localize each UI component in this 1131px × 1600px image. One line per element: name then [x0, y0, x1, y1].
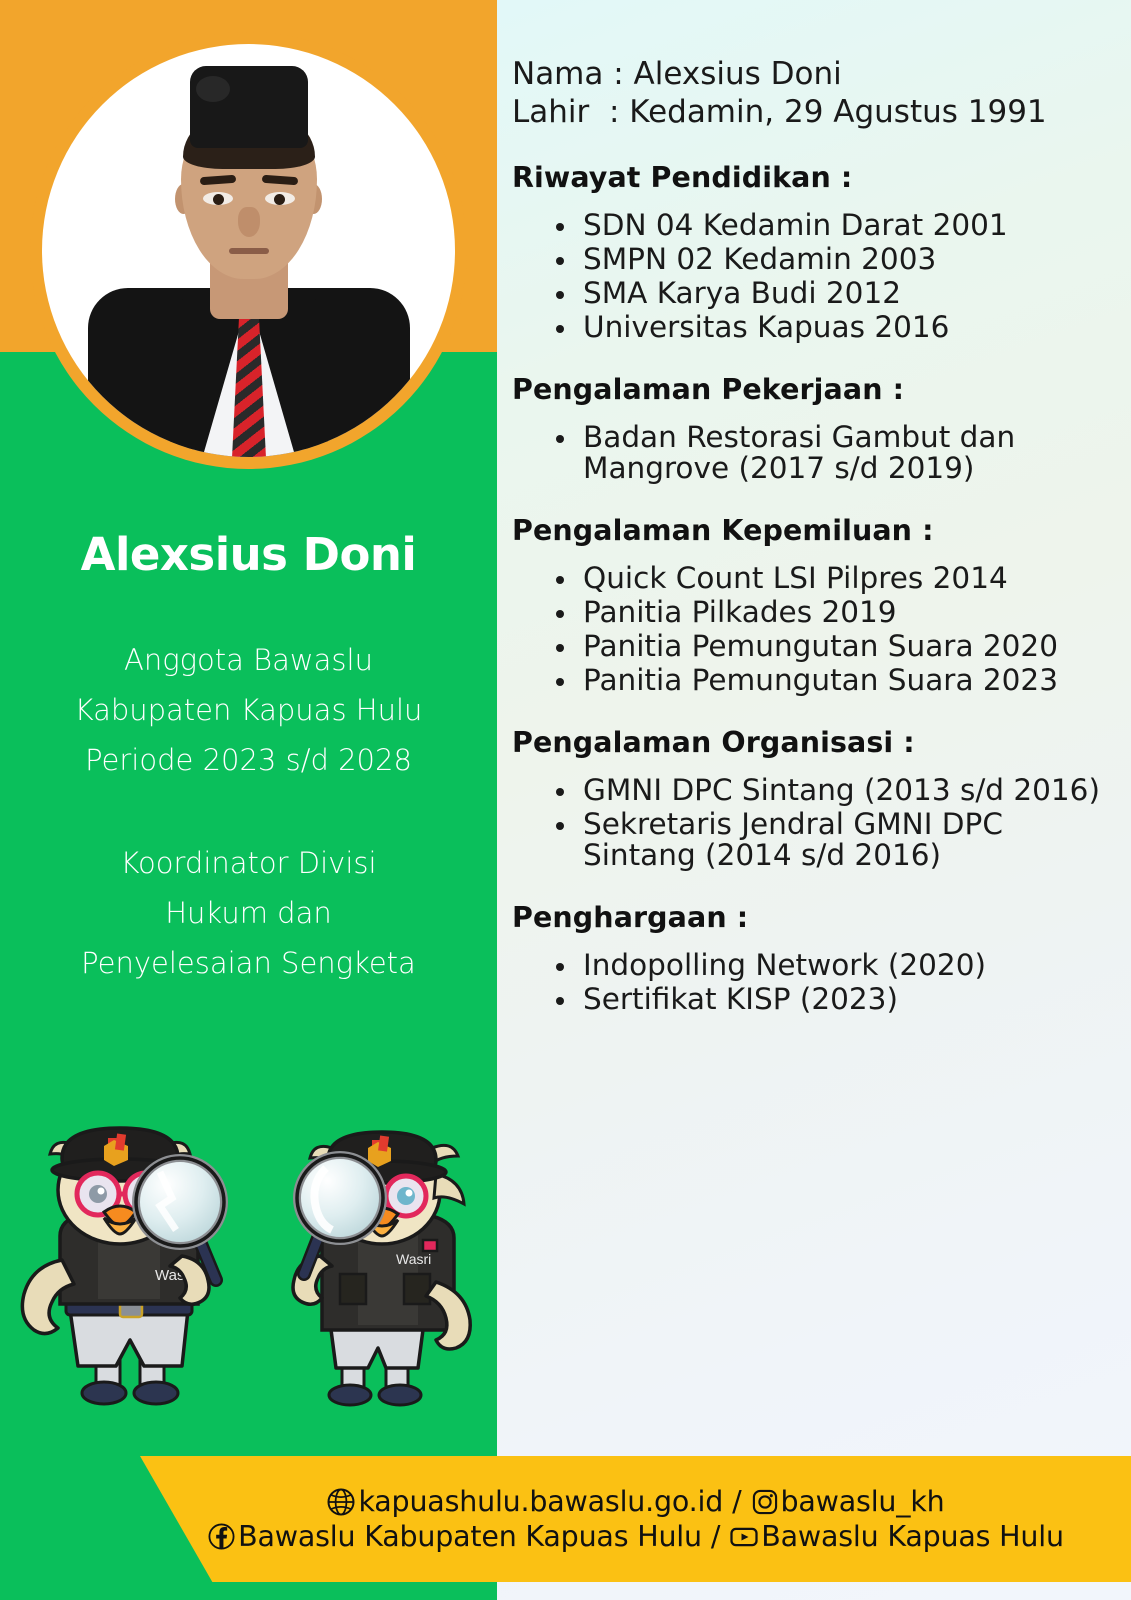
footer-line-1: kapuashulu.bawaslu.go.id / bawaslu_kh [326, 1485, 944, 1518]
role-line-3: Periode 2023 s/d 2028 [24, 735, 473, 785]
footer-instagram[interactable]: bawaslu_kh [781, 1485, 945, 1518]
mascot-waslu: Waslu [22, 1128, 224, 1404]
role-line-2: Kabupaten Kapuas Hulu [24, 685, 473, 735]
division-block: Koordinator Divisi Hukum dan Penyelesaia… [24, 838, 473, 988]
footer-youtube[interactable]: Bawaslu Kapuas Hulu [761, 1520, 1064, 1553]
identity-line-birth: Lahir : Kedamin, 29 Agustus 1991 [512, 93, 1112, 131]
division-line-1: Koordinator Divisi [24, 838, 473, 888]
identity-line-name: Nama : Alexsius Doni [512, 55, 1112, 93]
footer-line-2: Bawaslu Kabupaten Kapuas Hulu / Bawaslu … [207, 1520, 1064, 1553]
section-list-organization: GMNI DPC Sintang (2013 s/d 2016) Sekreta… [552, 775, 1112, 871]
list-item: Badan Restorasi Gambut dan Mangrove (201… [552, 422, 1112, 484]
division-line-3: Penyelesaian Sengketa [24, 938, 473, 988]
list-item: Sekretaris Jendral GMNI DPC Sintang (201… [552, 809, 1112, 871]
facebook-icon [207, 1522, 236, 1551]
section-heading-work: Pengalaman Pekerjaan : [512, 373, 1112, 406]
list-item: Panitia Pilkades 2019 [552, 597, 1112, 628]
list-item: SMPN 02 Kedamin 2003 [552, 244, 1112, 275]
section-list-election: Quick Count LSI Pilpres 2014 Panitia Pil… [552, 563, 1112, 696]
songkok-cap [190, 66, 308, 148]
list-item: Universitas Kapuas 2016 [552, 312, 1112, 343]
list-item: Panitia Pemungutan Suara 2020 [552, 631, 1112, 662]
globe-icon [326, 1487, 356, 1517]
profile-details: Nama : Alexsius Doni Lahir : Kedamin, 29… [512, 55, 1112, 1018]
youtube-icon [729, 1522, 759, 1552]
section-heading-election: Pengalaman Kepemiluan : [512, 514, 1112, 547]
portrait-illustration [42, 44, 455, 457]
list-item: GMNI DPC Sintang (2013 s/d 2016) [552, 775, 1112, 806]
section-heading-education: Riwayat Pendidikan : [512, 161, 1112, 194]
section-list-education: SDN 04 Kedamin Darat 2001 SMPN 02 Kedami… [552, 210, 1112, 343]
profile-photo [42, 44, 455, 457]
person-name: Alexsius Doni [0, 528, 497, 581]
mascot-wasri-label: Wasri [396, 1251, 431, 1267]
footer-facebook[interactable]: Bawaslu Kabupaten Kapuas Hulu [238, 1520, 702, 1553]
role-line-1: Anggota Bawaslu [24, 635, 473, 685]
mouth-shape [229, 248, 269, 254]
mascot-pair: Waslu [0, 1114, 497, 1414]
list-item: SMA Karya Budi 2012 [552, 278, 1112, 309]
pupil-left [213, 194, 224, 205]
list-item: Sertifikat KISP (2023) [552, 984, 1112, 1015]
instagram-icon [751, 1488, 779, 1516]
list-item: Indopolling Network (2020) [552, 950, 1112, 981]
division-line-2: Hukum dan [24, 888, 473, 938]
left-panel: Alexsius Doni Anggota Bawaslu Kabupaten … [0, 0, 497, 1600]
mascot-illustration: Waslu [0, 1114, 497, 1414]
list-item: Quick Count LSI Pilpres 2014 [552, 563, 1112, 594]
section-list-awards: Indopolling Network (2020) Sertifikat KI… [552, 950, 1112, 1015]
section-heading-awards: Penghargaan : [512, 901, 1112, 934]
footer-separator-2: / [711, 1520, 720, 1553]
footer-separator-1: / [732, 1485, 741, 1518]
profile-poster: Alexsius Doni Anggota Bawaslu Kabupaten … [0, 0, 1131, 1600]
role-block: Anggota Bawaslu Kabupaten Kapuas Hulu Pe… [24, 635, 473, 785]
list-item: SDN 04 Kedamin Darat 2001 [552, 210, 1112, 241]
section-heading-organization: Pengalaman Organisasi : [512, 726, 1112, 759]
pupil-right [274, 194, 285, 205]
footer-contact: kapuashulu.bawaslu.go.id / bawaslu_kh Ba… [140, 1456, 1131, 1582]
footer-website[interactable]: kapuashulu.bawaslu.go.id [358, 1485, 723, 1518]
nose-shape [238, 207, 260, 237]
list-item: Panitia Pemungutan Suara 2023 [552, 665, 1112, 696]
mascot-wasri: Wasri [293, 1132, 470, 1405]
section-list-work: Badan Restorasi Gambut dan Mangrove (201… [552, 422, 1112, 484]
